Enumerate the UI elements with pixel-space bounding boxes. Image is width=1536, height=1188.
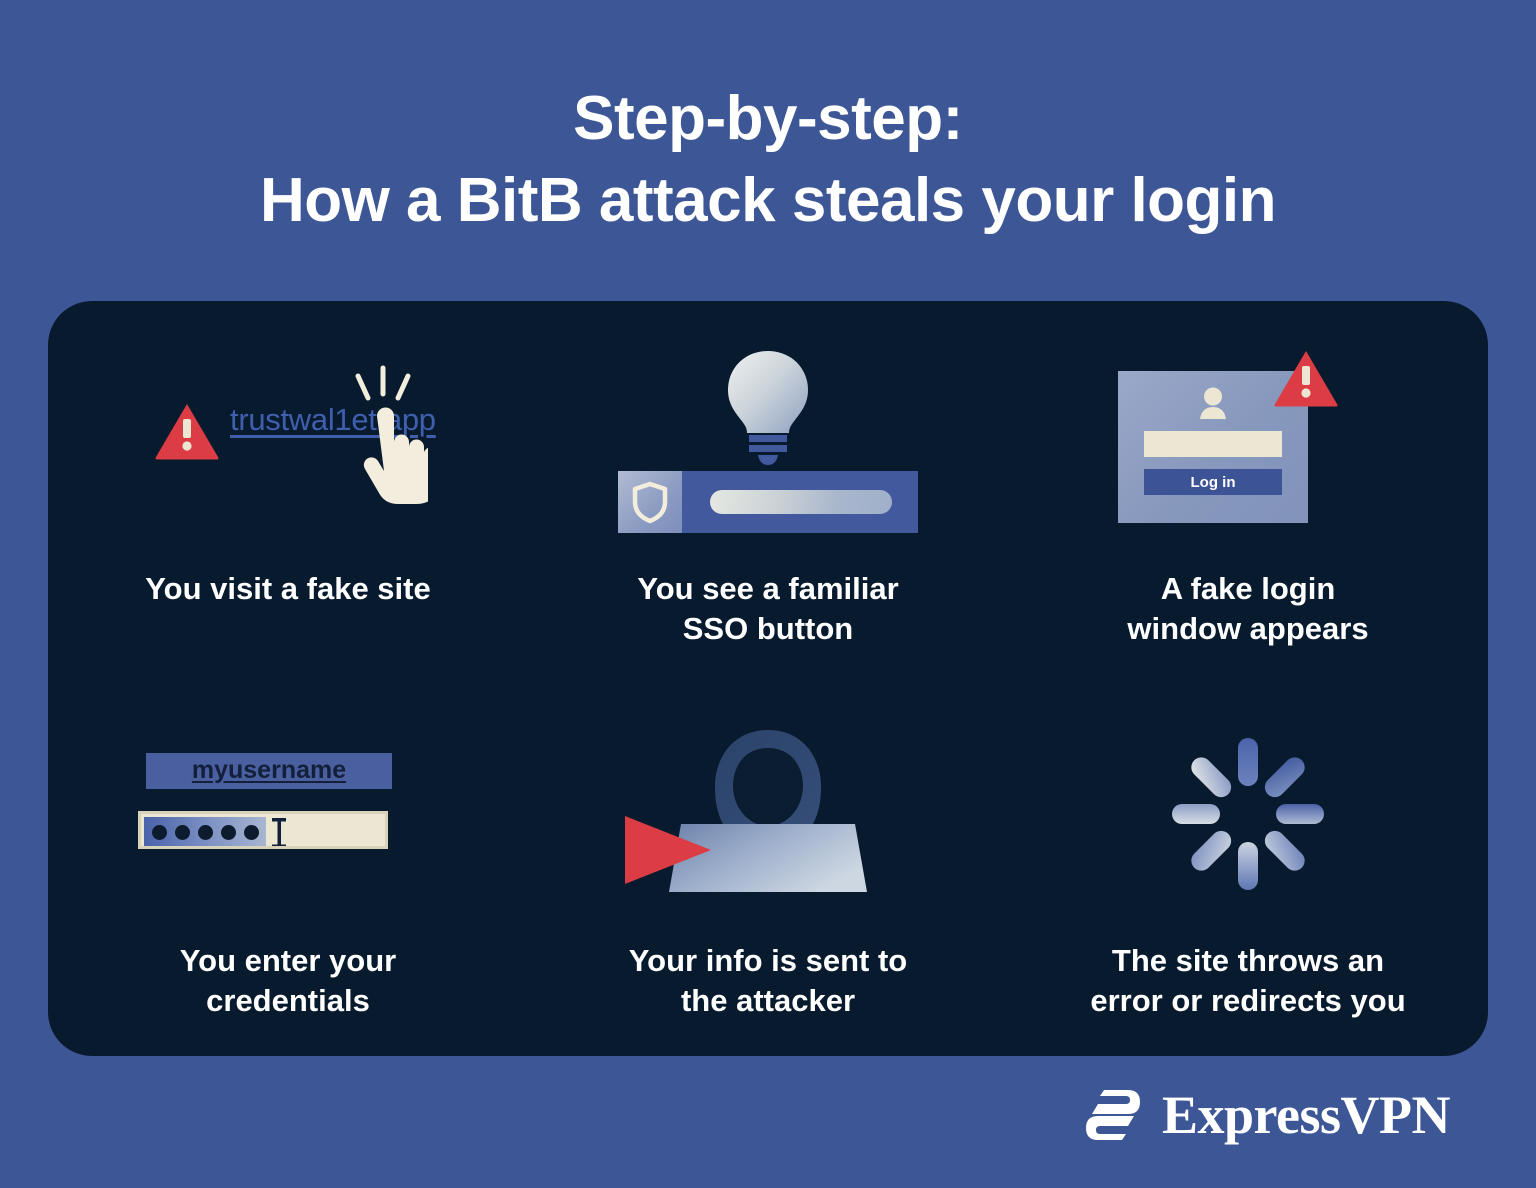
title-line-2: How a BitB attack steals your login	[0, 170, 1536, 232]
step-2-caption: You see a familiar SSO button	[637, 569, 898, 650]
click-hand-cursor-icon	[336, 364, 428, 514]
step-4-illustration: myusername	[48, 699, 528, 929]
username-input[interactable]: myusername	[146, 753, 392, 789]
step-card-error-or-redirect: The site throws an error or redirects yo…	[1008, 679, 1488, 1057]
sso-label-placeholder-bar	[710, 490, 892, 514]
shield-icon	[631, 480, 669, 524]
password-selection-highlight	[144, 817, 266, 849]
loading-spinner-icon	[1168, 734, 1328, 894]
username-value: myusername	[192, 756, 346, 785]
step-6-caption: The site throws an error or redirects yo…	[1090, 941, 1405, 1022]
step-4-caption: You enter your credentials	[180, 941, 396, 1022]
expressvpn-logo-icon	[1082, 1084, 1144, 1146]
password-dot	[221, 825, 236, 840]
step-3-illustration: Log in	[1008, 329, 1488, 559]
sso-shield-segment	[618, 471, 682, 533]
sso-button-bar[interactable]	[618, 471, 918, 533]
step-card-visit-fake-site: trustwal1et.app You visit a fake site	[48, 301, 528, 679]
step-card-familiar-sso-button: You see a familiar SSO button	[528, 301, 1008, 679]
brand-footer: ExpressVPN	[1082, 1084, 1450, 1146]
step-card-info-sent-to-attacker: Your info is sent to the attacker	[528, 679, 1008, 1057]
steps-panel: trustwal1et.app You visit a fake site	[48, 301, 1488, 1056]
person-avatar-icon	[1196, 387, 1230, 419]
step-2-illustration	[528, 329, 1008, 559]
password-dot	[198, 825, 213, 840]
password-input[interactable]	[138, 811, 388, 849]
fake-login-button[interactable]: Log in	[1144, 469, 1282, 495]
step-card-enter-credentials: myusername	[48, 679, 528, 1057]
lightbulb-icon	[724, 349, 812, 467]
step-6-illustration	[1008, 699, 1488, 929]
step-5-illustration	[528, 699, 1008, 929]
page-title: Step-by-step: How a BitB attack steals y…	[0, 0, 1536, 232]
password-dot	[244, 825, 259, 840]
step-1-caption: You visit a fake site	[145, 569, 430, 609]
warning-triangle-icon	[1273, 349, 1339, 407]
warning-triangle-icon	[154, 402, 220, 460]
sso-label-segment	[682, 471, 918, 533]
password-dot	[175, 825, 190, 840]
text-cursor-icon	[271, 818, 287, 848]
brand-name: ExpressVPN	[1162, 1088, 1450, 1142]
password-dot	[152, 825, 167, 840]
title-line-1: Step-by-step:	[0, 88, 1536, 150]
step-5-caption: Your info is sent to the attacker	[629, 941, 907, 1022]
fake-login-username-field[interactable]	[1144, 431, 1282, 457]
step-1-illustration: trustwal1et.app	[48, 329, 528, 559]
step-3-caption: A fake login window appears	[1127, 569, 1368, 650]
step-card-fake-login-window: Log in A fake login window appears	[1008, 301, 1488, 679]
steps-grid: trustwal1et.app You visit a fake site	[48, 301, 1488, 1056]
hooded-attacker-icon	[623, 724, 913, 904]
